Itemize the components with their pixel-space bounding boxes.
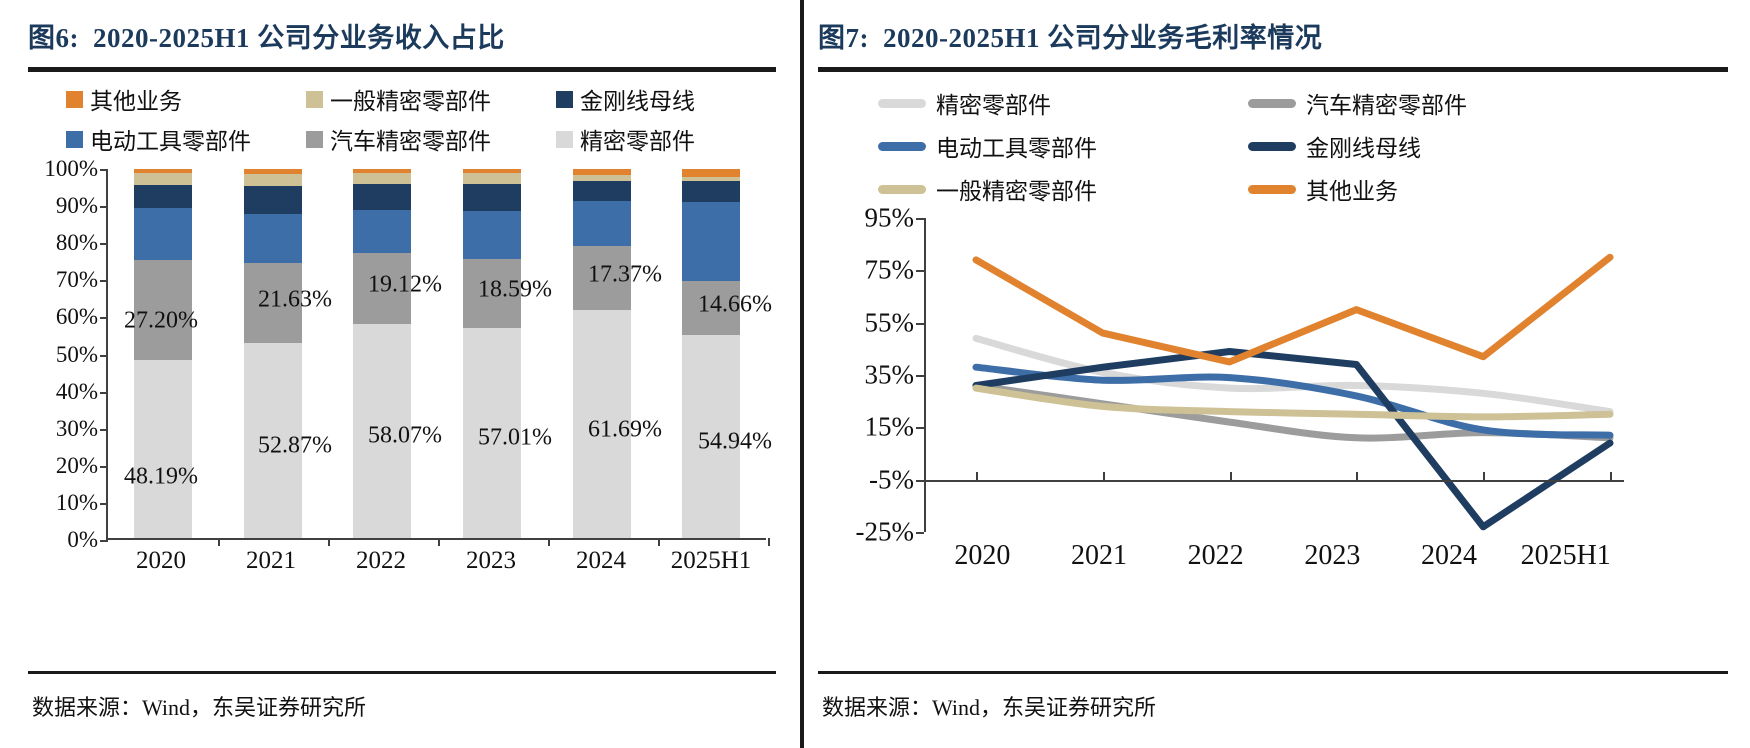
y-tick-mark	[100, 429, 108, 431]
legend-item-diamond-wire-line[interactable]: 金刚线母线	[1248, 129, 1750, 163]
legend-item-auto-precision-parts-line[interactable]: 汽车精密零部件	[1248, 86, 1750, 120]
figure-7-bottom-rule	[818, 671, 1728, 674]
figure-6-legend: 其他业务 一般精密零部件 金刚线母线 电动工具零部件 汽车精密零部件 精密零部件	[28, 72, 800, 162]
legend-label-precision-parts: 精密零部件	[580, 122, 695, 156]
bar-segment[interactable]	[134, 185, 192, 208]
legend-swatch-general-precision-parts	[306, 91, 323, 108]
x-tick-label: 2025H1	[1507, 540, 1624, 572]
bar-segment[interactable]	[463, 173, 521, 183]
x-tick-mark	[1356, 472, 1358, 480]
x-tick-label: 2023	[1274, 540, 1391, 572]
legend-label-power-tool-parts-line: 电动工具零部件	[936, 129, 1097, 163]
legend-item-other-business[interactable]: 其他业务	[66, 82, 306, 116]
x-tick-label: 2025H1	[656, 547, 766, 575]
figure-7-x-axis-line	[924, 480, 1624, 482]
figure-7-plot-area	[924, 218, 1624, 532]
bar-segment[interactable]	[682, 169, 740, 177]
bar-segment[interactable]	[244, 214, 302, 263]
figure-7-number: 图7:	[818, 16, 869, 55]
stacked-bar[interactable]	[573, 169, 631, 538]
bar-segment[interactable]	[353, 184, 411, 210]
legend-item-diamond-wire[interactable]: 金刚线母线	[556, 82, 800, 116]
bar-segment[interactable]	[682, 202, 740, 281]
bar-segment[interactable]	[353, 173, 411, 184]
stacked-bar[interactable]	[682, 169, 740, 538]
legend-item-precision-parts[interactable]: 精密零部件	[556, 122, 800, 156]
legend-line-auto-precision-parts	[1248, 99, 1296, 108]
figure-6-x-axis: 202020212022202320242025H1	[106, 547, 766, 575]
legend-item-precision-parts-line[interactable]: 精密零部件	[878, 86, 1248, 120]
legend-label-other-business-line: 其他业务	[1306, 172, 1398, 206]
legend-swatch-precision-parts	[556, 131, 573, 148]
figure-7-y-axis-line	[924, 218, 926, 532]
bar-segment[interactable]	[134, 360, 192, 538]
x-tick-mark	[548, 538, 550, 546]
legend-label-general-precision-parts: 一般精密零部件	[330, 82, 491, 116]
legend-item-power-tool-parts-line[interactable]: 电动工具零部件	[878, 129, 1248, 163]
y-tick-mark	[100, 540, 108, 542]
legend-swatch-diamond-wire	[556, 91, 573, 108]
y-tick-label: 50%	[56, 342, 98, 368]
bar-slot[interactable]	[656, 169, 766, 538]
y-tick-mark	[916, 270, 924, 272]
y-tick-mark	[916, 218, 924, 220]
bar-data-label: 58.07%	[368, 423, 442, 450]
bar-data-label: 52.87%	[258, 432, 332, 459]
x-tick-mark	[1483, 472, 1485, 480]
y-tick-label: 80%	[56, 230, 98, 256]
y-tick-mark	[916, 427, 924, 429]
x-tick-mark	[1610, 472, 1612, 480]
bar-data-label: 61.69%	[588, 416, 662, 443]
legend-label-auto-precision-parts: 汽车精密零部件	[330, 122, 491, 156]
y-tick-mark	[916, 375, 924, 377]
figure-6-panel: 图6: 2020-2025H1 公司分业务收入占比 其他业务 一般精密零部件 金…	[0, 0, 800, 748]
legend-item-other-business-line[interactable]: 其他业务	[1248, 172, 1750, 206]
bar-slot[interactable]	[437, 169, 547, 538]
stacked-bar[interactable]	[463, 169, 521, 538]
bar-segment[interactable]	[353, 210, 411, 253]
legend-label-precision-parts-line: 精密零部件	[936, 86, 1051, 120]
figure-7-chart: 95%75%55%35%15%-5%-25% 20202021202220232…	[806, 210, 1706, 610]
bar-segment[interactable]	[134, 208, 192, 260]
x-tick-label: 2020	[106, 547, 216, 575]
legend-line-power-tool-parts	[878, 142, 926, 151]
x-tick-mark	[438, 538, 440, 546]
x-tick-mark	[1230, 472, 1232, 480]
y-tick-mark	[100, 317, 108, 319]
bar-segment[interactable]	[244, 174, 302, 186]
figure-7-panel: 图7: 2020-2025H1 公司分业务毛利率情况 精密零部件 汽车精密零部件…	[800, 0, 1750, 748]
x-tick-label: 2024	[1391, 540, 1508, 572]
bar-segment[interactable]	[244, 186, 302, 215]
figure-7-lines	[924, 218, 1624, 532]
y-tick-mark	[100, 280, 108, 282]
y-tick-label: 55%	[865, 307, 915, 338]
y-tick-label: 60%	[56, 304, 98, 330]
bar-data-label: 14.66%	[698, 291, 772, 318]
figure-6-number: 图6:	[28, 16, 79, 55]
figure-6-title-text: 2020-2025H1 公司分业务收入占比	[93, 16, 505, 55]
legend-label-diamond-wire: 金刚线母线	[580, 82, 695, 116]
bar-data-label: 48.19%	[124, 463, 198, 490]
bar-data-label: 18.59%	[478, 277, 552, 304]
x-tick-mark	[328, 538, 330, 546]
figure-7-y-axis: 95%75%55%35%15%-5%-25%	[806, 210, 918, 540]
x-tick-label: 2022	[326, 547, 436, 575]
y-tick-mark	[100, 206, 108, 208]
legend-label-power-tool-parts: 电动工具零部件	[90, 122, 251, 156]
figure-6-chart: 100%90%80%70%60%50%40%30%20%10%0% 48.19%…	[28, 162, 788, 592]
y-tick-label: 20%	[56, 453, 98, 479]
x-tick-mark	[218, 538, 220, 546]
y-tick-mark	[100, 392, 108, 394]
bar-segment[interactable]	[682, 181, 740, 202]
x-tick-label: 2021	[1041, 540, 1158, 572]
figure-6-plot-area: 48.19%27.20%52.87%21.63%58.07%19.12%57.0…	[106, 169, 766, 540]
y-tick-mark	[916, 323, 924, 325]
y-tick-label: -5%	[869, 464, 914, 495]
figure-7-title-text: 2020-2025H1 公司分业务毛利率情况	[883, 16, 1322, 55]
figure-6-bars	[108, 169, 766, 538]
figure-6-title: 图6: 2020-2025H1 公司分业务收入占比	[28, 16, 800, 55]
legend-label-diamond-wire-line: 金刚线母线	[1306, 129, 1421, 163]
x-tick-mark	[768, 538, 770, 546]
x-tick-label: 2022	[1157, 540, 1274, 572]
bar-data-label: 54.94%	[698, 429, 772, 456]
y-tick-label: 70%	[56, 267, 98, 293]
y-tick-label: 35%	[865, 360, 915, 391]
x-tick-label: 2023	[436, 547, 546, 575]
x-tick-mark	[1103, 472, 1105, 480]
legend-swatch-power-tool-parts	[66, 131, 83, 148]
bar-slot[interactable]	[218, 169, 328, 538]
x-tick-mark	[976, 472, 978, 480]
y-tick-mark	[916, 532, 924, 534]
bar-slot[interactable]	[327, 169, 437, 538]
figure-7-source: 数据来源：Wind，东吴证券研究所	[822, 690, 1156, 722]
bar-segment[interactable]	[463, 211, 521, 259]
figure-6-bottom-rule	[28, 671, 776, 674]
figure-6-y-axis: 100%90%80%70%60%50%40%30%20%10%0%	[28, 162, 102, 547]
y-tick-mark	[100, 169, 108, 171]
stacked-bar[interactable]	[353, 169, 411, 538]
x-tick-label: 2021	[216, 547, 326, 575]
legend-item-general-precision-parts-line[interactable]: 一般精密零部件	[878, 172, 1248, 206]
y-tick-label: 40%	[56, 379, 98, 405]
x-tick-mark	[658, 538, 660, 546]
figure-7-legend: 精密零部件 汽车精密零部件 电动工具零部件 金刚线母线 一般精密零部件 其他业务	[800, 72, 1750, 210]
y-tick-label: 90%	[56, 193, 98, 219]
legend-item-auto-precision-parts[interactable]: 汽车精密零部件	[306, 122, 556, 156]
legend-label-general-precision-parts-line: 一般精密零部件	[936, 172, 1097, 206]
y-tick-mark	[100, 503, 108, 505]
bar-data-label: 57.01%	[478, 425, 552, 452]
y-tick-label: 95%	[865, 203, 915, 234]
stacked-bar[interactable]	[244, 169, 302, 538]
legend-line-precision-parts	[878, 99, 926, 108]
bar-segment[interactable]	[134, 173, 192, 184]
bar-segment[interactable]	[463, 184, 521, 211]
y-tick-mark	[100, 355, 108, 357]
figure-6-source: 数据来源：Wind，东吴证券研究所	[32, 690, 366, 722]
line-series[interactable]	[976, 388, 1610, 417]
figures-page: 图6: 2020-2025H1 公司分业务收入占比 其他业务 一般精密零部件 金…	[0, 0, 1750, 748]
y-tick-mark	[916, 480, 924, 482]
legend-item-power-tool-parts[interactable]: 电动工具零部件	[66, 122, 306, 156]
y-tick-label: 10%	[56, 490, 98, 516]
legend-line-diamond-wire	[1248, 142, 1296, 151]
legend-label-other-business: 其他业务	[90, 82, 182, 116]
legend-item-general-precision-parts[interactable]: 一般精密零部件	[306, 82, 556, 116]
y-tick-mark	[100, 243, 108, 245]
line-series[interactable]	[976, 257, 1610, 362]
bar-data-label: 27.20%	[124, 307, 198, 334]
figure-7-title: 图7: 2020-2025H1 公司分业务毛利率情况	[800, 16, 1750, 55]
bar-segment[interactable]	[573, 181, 631, 200]
bar-segment[interactable]	[573, 175, 631, 182]
y-tick-label: 30%	[56, 416, 98, 442]
x-tick-label: 2020	[924, 540, 1041, 572]
y-tick-label: 0%	[67, 527, 98, 553]
legend-swatch-auto-precision-parts	[306, 131, 323, 148]
figure-7-x-axis: 202020212022202320242025H1	[924, 540, 1624, 572]
legend-line-other-business	[1248, 185, 1296, 194]
y-tick-mark	[100, 466, 108, 468]
legend-swatch-other-business	[66, 91, 83, 108]
bar-data-label: 17.37%	[588, 261, 662, 288]
x-tick-label: 2024	[546, 547, 656, 575]
y-tick-label: -25%	[856, 517, 914, 548]
legend-label-auto-precision-parts-line: 汽车精密零部件	[1306, 86, 1467, 120]
y-tick-label: 75%	[865, 255, 915, 286]
bar-data-label: 21.63%	[258, 286, 332, 313]
y-tick-label: 15%	[865, 412, 915, 443]
legend-line-general-precision-parts	[878, 185, 926, 194]
bar-slot[interactable]	[547, 169, 657, 538]
y-tick-label: 100%	[44, 156, 98, 182]
bar-data-label: 19.12%	[368, 272, 442, 299]
bar-segment[interactable]	[573, 201, 631, 247]
